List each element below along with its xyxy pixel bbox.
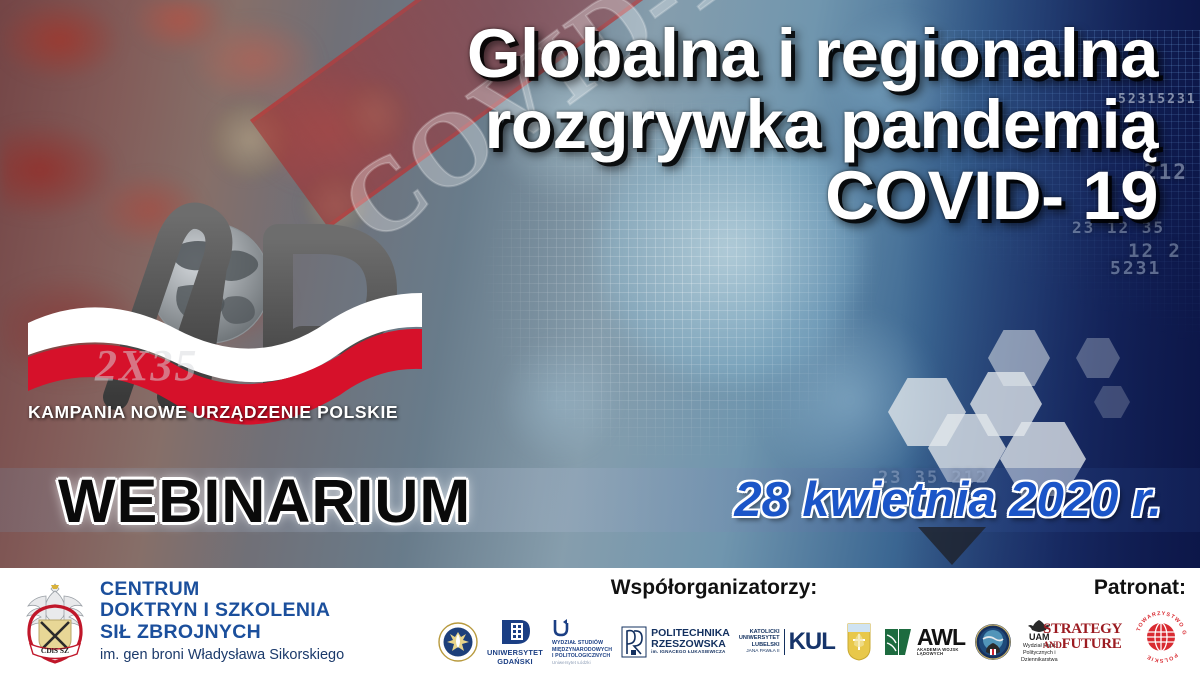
pr-mark-icon — [621, 626, 647, 658]
logo-polskie-towarzystwo-geopolityczne[interactable]: TOWARZYSTWO GEOPOLITYCZNE POLSKIE — [1132, 608, 1190, 666]
ap-monogram-icon — [20, 205, 440, 435]
digital-number: 5231 — [1110, 258, 1161, 279]
patron-logo-row: STRATEGY ANDFUTURE — [990, 608, 1200, 666]
logo-strategy-and-future[interactable]: STRATEGY ANDFUTURE — [1043, 622, 1122, 651]
webinar-poster: 52315231 212 23 12 35 12 2 5231 23 35 21… — [0, 0, 1200, 674]
hexagon-icon — [1076, 338, 1120, 378]
coorganizer-logo-row: UNIWERSYTET GDAŃSKI WYDZIAŁ STUDIÓW MIĘD… — [438, 617, 990, 666]
kul-crest-icon — [844, 622, 874, 662]
kul-label-1: KATOLICKI — [739, 629, 780, 636]
down-arrow-icon — [918, 527, 986, 565]
campaign-logo — [20, 205, 440, 435]
logo-uniwersytet-gdanski[interactable]: UNIWERSYTET GDAŃSKI — [487, 617, 543, 666]
organizer-line-2: DOKTRYN I SZKOLENIA — [100, 600, 344, 622]
ul-arrow-icon — [552, 618, 570, 638]
poster-title: Globalna i regionalna rozgrywka pandemią… — [467, 18, 1158, 231]
ptg-globe-icon: TOWARZYSTWO GEOPOLITYCZNE POLSKIE — [1132, 608, 1190, 666]
kul-mark: KUL — [789, 628, 835, 656]
academy-seal-icon — [438, 622, 478, 662]
campaign-logo-caption: KAMPANIA NOWE URZĄDZENIE POLSKIE — [28, 402, 398, 423]
sf-label: STRATEGY ANDFUTURE — [1043, 622, 1122, 651]
ul-sub: Uniwersytet Łódzki — [552, 660, 612, 666]
organizer-line-3: SIŁ ZBROJNYCH — [100, 622, 344, 644]
organizer-name: CENTRUM DOKTRYN I SZKOLENIA SIŁ ZBROJNYC… — [100, 579, 344, 664]
svg-text:POLSKIE: POLSKIE — [1146, 652, 1179, 663]
logo-akademia-wojsk-ladowych[interactable]: AWL AKADEMIA WOJSK LĄDOWYCH — [883, 627, 965, 657]
logo-uniwersytet-lodzki-wsmip[interactable]: WYDZIAŁ STUDIÓW MIĘDZYNARODOWYCH I POLIT… — [552, 618, 612, 665]
organizer-block: CDiS SZ CENTRUM DOKTRYN I SZKOLENIA SIŁ … — [0, 568, 438, 674]
title-line-3: COVID- 19 — [467, 160, 1158, 231]
sf-line-1: STRATEGY — [1043, 622, 1122, 637]
footer-bar: CDiS SZ CENTRUM DOKTRYN I SZKOLENIA SIŁ … — [0, 568, 1200, 674]
kul-label: KATOLICKI UNIWERSYTET LUBELSKI JANA PAWŁ… — [739, 629, 780, 655]
logo-akademia-sztuki-wojennej[interactable] — [438, 622, 478, 662]
title-line-1: Globalna i regionalna — [467, 18, 1158, 89]
logo-kul-crest[interactable] — [844, 622, 874, 662]
kul-label-2: UNIWERSYTET — [739, 635, 780, 642]
awl-label: AWL AKADEMIA WOJSK LĄDOWYCH — [917, 627, 965, 655]
awl-sub: AKADEMIA WOJSK LĄDOWYCH — [917, 648, 965, 656]
coorganizers-heading: Współorganizatorzy: — [438, 576, 990, 600]
patronage-heading: Patronat: — [990, 576, 1200, 600]
sf-and: AND — [1043, 640, 1062, 650]
ul-label-text: WYDZIAŁ STUDIÓW MIĘDZYNARODOWYCH I POLIT… — [552, 640, 612, 660]
ug-shield-icon — [498, 617, 532, 647]
organizer-line-1: CENTRUM — [100, 579, 344, 601]
awl-leaf-icon — [883, 627, 913, 657]
ul-label: WYDZIAŁ STUDIÓW MIĘDZYNARODOWYCH I POLIT… — [552, 640, 612, 665]
hexagon-icon — [1094, 386, 1130, 418]
kul-label-3: LUBELSKI — [739, 642, 780, 649]
coorganizers-block: Współorganizatorzy: — [438, 568, 990, 674]
ug-label: UNIWERSYTET GDAŃSKI — [487, 648, 543, 666]
sf-line-2: FUTURE — [1062, 636, 1122, 652]
kul-sub: JANA PAWŁA II — [739, 649, 780, 655]
event-type-label: WEBINARIUM — [58, 466, 471, 536]
pr-label: POLITECHNIKA RZESZOWSKA im. IGNACEGO ŁUK… — [651, 628, 730, 655]
pr-sub: im. IGNACEGO ŁUKASIEWICZA — [651, 650, 730, 655]
event-date: 28 kwietnia 2020 r. — [734, 472, 1162, 528]
patronage-block: Patronat: STRATEGY ANDFUTURE — [990, 568, 1200, 674]
svg-text:CDiS SZ: CDiS SZ — [41, 646, 69, 655]
logo-inner-mark: 2X35 — [95, 340, 198, 391]
title-line-2: rozgrywka pandemią — [467, 89, 1158, 160]
cdis-sz-emblem-icon: CDiS SZ — [18, 578, 92, 664]
logo-politechnika-rzeszowska[interactable]: POLITECHNIKA RZESZOWSKA im. IGNACEGO ŁUK… — [621, 626, 730, 658]
organizer-line-4: im. gen broni Władysława Sikorskiego — [100, 647, 344, 663]
logo-katolicki-uniwersytet-lubelski[interactable]: KATOLICKI UNIWERSYTET LUBELSKI JANA PAWŁ… — [739, 628, 835, 656]
